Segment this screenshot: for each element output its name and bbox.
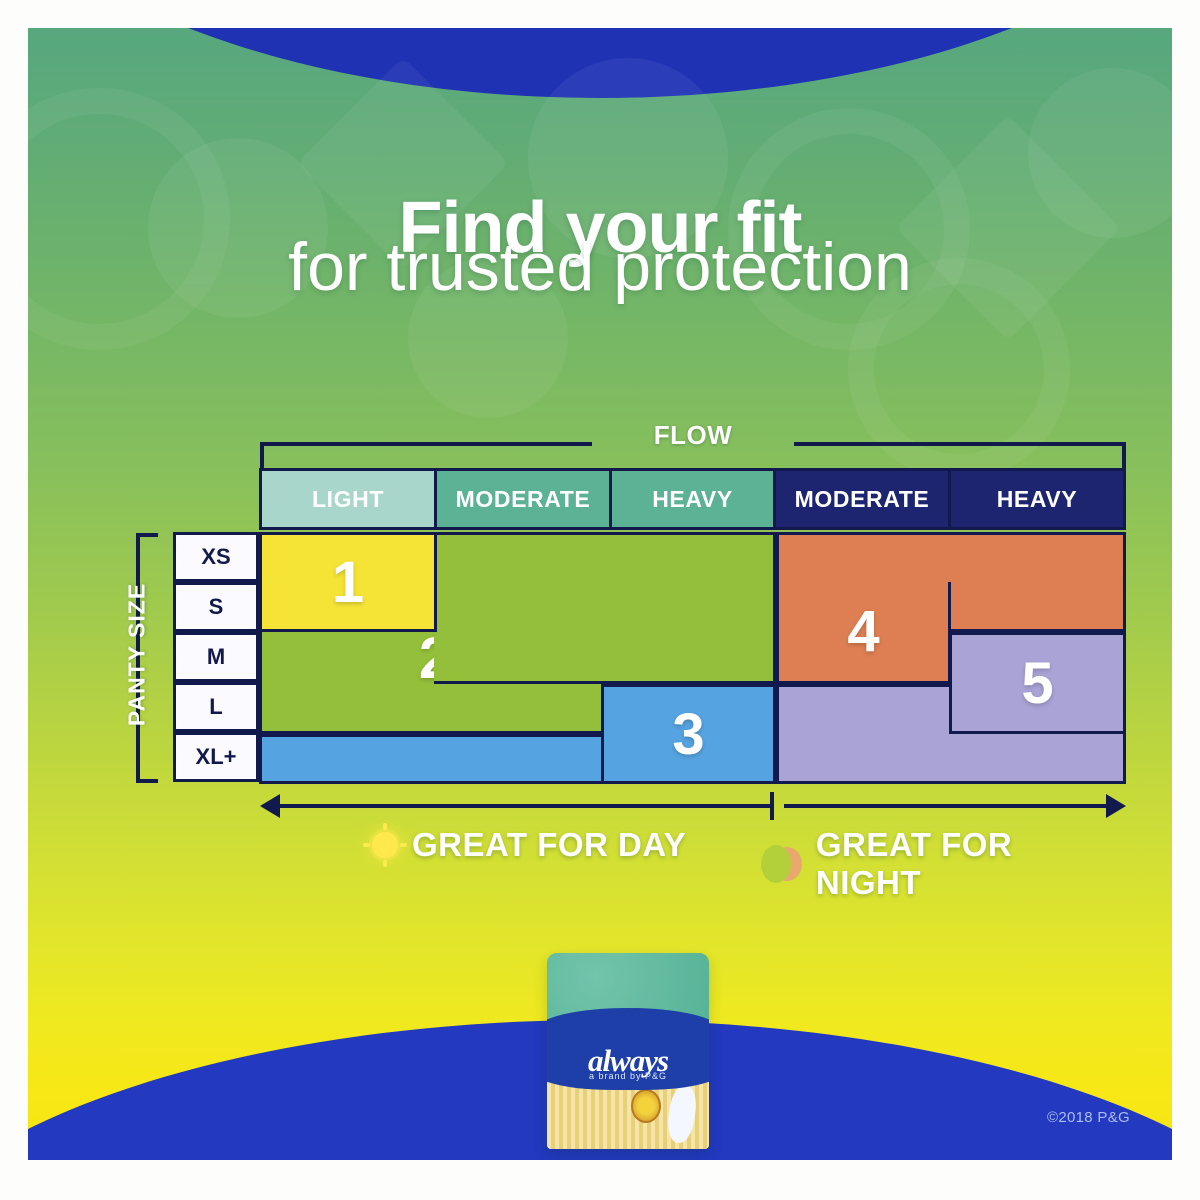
page-subtitle: for trusted protection	[28, 232, 1172, 303]
legend-label-day: GREAT FOR DAY	[412, 826, 686, 864]
infographic-canvas: Find your fit for trusted protection FLO…	[0, 0, 1200, 1200]
moon-icon	[772, 847, 802, 881]
row-header-s[interactable]: S	[173, 582, 259, 632]
fit-block-3-upper[interactable]: 3	[601, 684, 776, 784]
column-header-moderate-day[interactable]: MODERATE	[434, 468, 612, 530]
column-header-heavy-day[interactable]: HEAVY	[609, 468, 776, 530]
row-header-xl[interactable]: XL+	[173, 732, 259, 782]
fit-block-1-value: 1	[332, 549, 364, 616]
fit-block-4-value: 4	[847, 598, 879, 665]
arrow-divider	[770, 792, 774, 820]
fit-block-2-upper[interactable]	[434, 532, 776, 684]
sun-icon	[372, 832, 398, 858]
infographic-card: Find your fit for trusted protection FLO…	[28, 28, 1172, 1160]
legend-item-night: GREAT FOR NIGHT	[772, 826, 1126, 902]
panty-size-axis-label: PANTY SIZE	[124, 530, 151, 780]
fit-table: LIGHT MODERATE HEAVY MODERATE HEAVY XS S…	[173, 468, 1126, 784]
flow-axis: FLOW	[260, 424, 1126, 468]
fit-table-body: 2 1 3 4 5	[259, 532, 1126, 784]
package-tagline: a brand by P&G	[547, 1071, 709, 1081]
arrow-line-night	[784, 804, 1110, 808]
panty-size-axis: PANTY SIZE	[120, 533, 154, 783]
package-seal-icon	[631, 1089, 661, 1123]
legend-item-day: GREAT FOR DAY	[372, 826, 686, 864]
fit-block-1[interactable]: 1	[259, 532, 437, 632]
arrow-right-tip-icon	[1106, 794, 1126, 818]
row-header-xs[interactable]: XS	[173, 532, 259, 582]
row-header-m[interactable]: M	[173, 632, 259, 682]
column-header-light[interactable]: LIGHT	[259, 468, 437, 530]
day-night-arrow	[260, 790, 1126, 820]
column-header-moderate-night[interactable]: MODERATE	[773, 468, 951, 530]
fit-block-5-value: 5	[1021, 650, 1053, 717]
flow-axis-label: FLOW	[260, 420, 1126, 451]
legend: GREAT FOR DAY GREAT FOR NIGHT	[260, 826, 1126, 872]
product-package: always a brand by P&G	[547, 953, 709, 1149]
top-blue-arc	[28, 28, 1172, 98]
fit-block-3-value: 3	[672, 701, 704, 768]
fit-block-4-lower[interactable]: 4	[776, 582, 951, 684]
row-header-l[interactable]: L	[173, 682, 259, 732]
legend-label-night: GREAT FOR NIGHT	[816, 826, 1126, 902]
fit-block-5-upper[interactable]: 5	[949, 632, 1126, 734]
column-header-heavy-night[interactable]: HEAVY	[948, 468, 1126, 530]
arrow-line-day	[276, 804, 770, 808]
copyright-text: ©2018 P&G	[1047, 1109, 1130, 1126]
